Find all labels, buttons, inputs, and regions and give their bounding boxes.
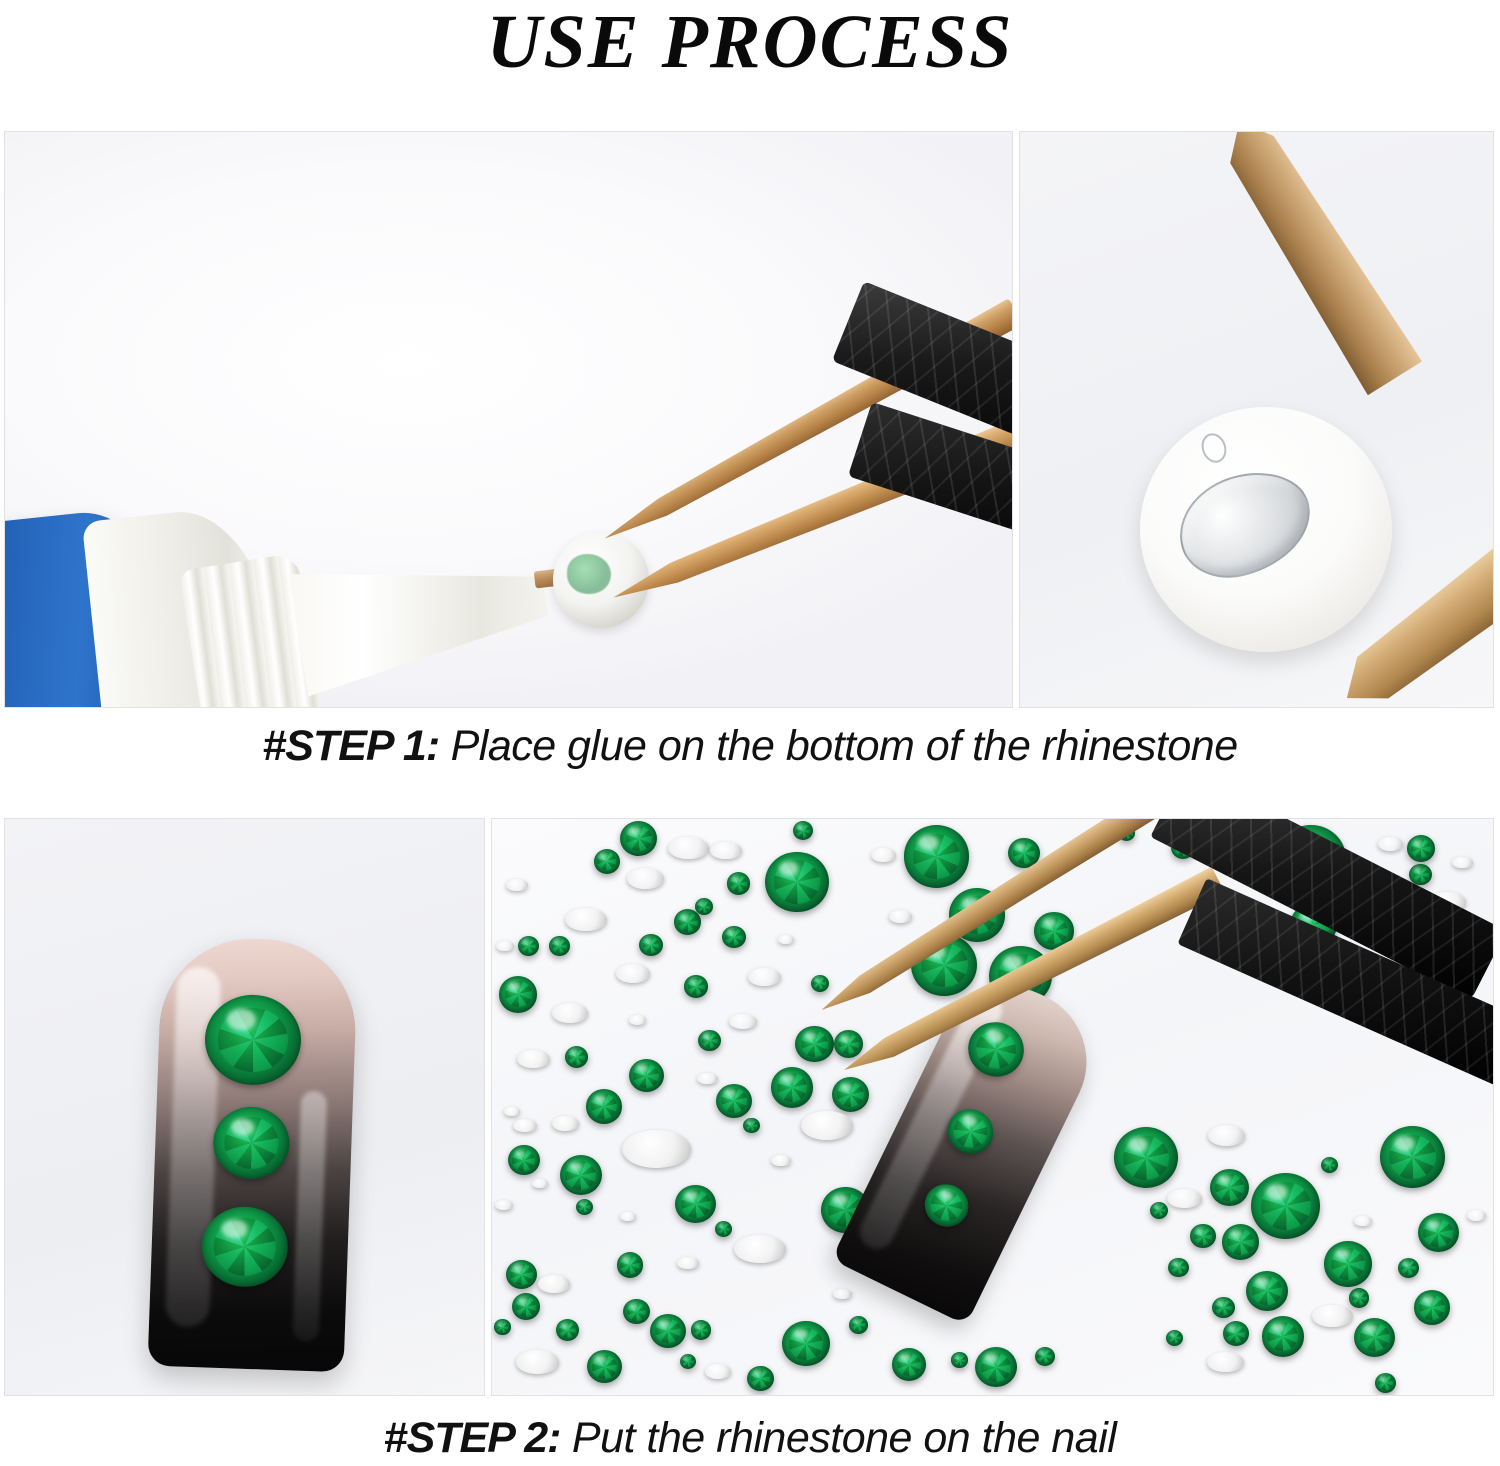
rhinestone-green (508, 1145, 540, 1175)
rhinestone-green (1414, 1290, 1451, 1325)
finished-nail-photo (4, 818, 485, 1396)
rhinestone-green (1251, 1173, 1321, 1239)
rhinestone-flat-back (552, 1003, 588, 1023)
rhinestone-flat-back (627, 868, 664, 888)
rhinestone-flat-back (668, 837, 709, 859)
rhinestone-green (594, 849, 620, 874)
rhinestone-flat-back (778, 935, 794, 944)
rhinestone-green (1321, 1157, 1338, 1173)
rhinestone-green (1035, 1347, 1055, 1366)
rhinestone-green (747, 1366, 774, 1391)
rhinestone-flat-back (516, 1350, 559, 1374)
rhinestone-flat-back (833, 1289, 852, 1299)
rhinestone-flat-back (1140, 407, 1392, 652)
rhinestone-green (1212, 1297, 1234, 1318)
rhinestone-flat-back (889, 910, 913, 923)
step-2-text: Put the rhinestone on the nail (560, 1414, 1116, 1462)
rhinestone-green (1354, 1318, 1395, 1357)
rhinestone-green (1150, 1202, 1168, 1219)
rhinestone-flat-back (1167, 1189, 1201, 1208)
glue-bubble (1198, 430, 1231, 466)
rhinestone-green (691, 1320, 712, 1340)
rhinestone-flat-back (871, 848, 896, 862)
rhinestone-green (834, 1030, 863, 1058)
rhinestone-green (1398, 1258, 1419, 1278)
rhinestone-flat-back (513, 1119, 537, 1132)
rhinestone-green (1375, 1373, 1396, 1393)
rhinestone-green (617, 1252, 644, 1277)
rhinestone-scatter-and-application-photo (491, 818, 1494, 1396)
rhinestone-green (795, 1026, 833, 1062)
rhinestone-green (586, 1089, 622, 1123)
rhinestone-green (1418, 1213, 1459, 1252)
rhinestone-flat-back (517, 1050, 550, 1068)
rhinestone-green (892, 1348, 926, 1380)
rhinestone-green (1349, 1288, 1369, 1307)
rhinestone-green (623, 1299, 649, 1324)
rhinestone-green (650, 1314, 686, 1348)
rhinestone-green (494, 1319, 510, 1334)
rhinestone-green (560, 1155, 602, 1195)
rhinestone-green (765, 852, 829, 912)
nozzle-cone (289, 535, 555, 697)
rhinestone-green (1166, 1330, 1183, 1346)
glue-blob (1168, 460, 1322, 588)
page-title: USE PROCESS (0, 0, 1500, 86)
rhinestone-flat-back (552, 1116, 579, 1131)
rhinestone-flat-back (620, 1212, 637, 1221)
rhinestone-green (811, 975, 829, 992)
rhinestone-green (1114, 1127, 1178, 1188)
rhinestone-green (639, 934, 662, 956)
rhinestone-green (975, 1347, 1017, 1387)
rhinestone-green (1407, 835, 1435, 862)
rhinestone-flat-back (616, 964, 650, 983)
glue-bottle-and-tweezers-photo (4, 131, 1013, 708)
step-1-text: Place glue on the bottom of the rhinesto… (439, 722, 1237, 770)
rhinestone-flat-back (565, 908, 608, 931)
rhinestone-green (576, 1199, 593, 1215)
rhinestone-green (499, 976, 537, 1012)
step-2-image-row (4, 818, 1494, 1396)
rhinestone-green (716, 1084, 752, 1118)
rhinestone-green (629, 1059, 664, 1092)
rhinestone-green (1246, 1271, 1288, 1311)
rhinestone-flat-back (1312, 1305, 1353, 1328)
rhinestone-green (793, 821, 813, 840)
rhinestone-flat-back (748, 968, 781, 986)
rhinestone-green (587, 1350, 622, 1383)
nail-gloss-highlight-secondary (293, 1091, 328, 1342)
rhinestone-green (904, 825, 970, 887)
rhinestone-flat-back (734, 1235, 785, 1263)
rhinestone-flat-back (677, 1257, 699, 1269)
rhinestone-green (727, 872, 751, 894)
rhinestone-green (782, 1321, 829, 1366)
rhinestone-green (743, 1118, 759, 1133)
rhinestone-flat-back (705, 1364, 731, 1378)
rhinestone-flat-back (496, 941, 514, 951)
rhinestone-green (1262, 1316, 1305, 1356)
rhinestone-green (715, 1221, 732, 1237)
rhinestone-green (722, 926, 746, 949)
rhinestone-green (518, 936, 539, 956)
rhinestone-green (1008, 838, 1039, 868)
step-1-label: #STEP 1: (262, 722, 439, 770)
rhinestone-green (1222, 1224, 1259, 1259)
nail-rhinestone-small (918, 1177, 976, 1234)
rhinestone-flat-back (1208, 1125, 1245, 1145)
rhinestone-flat-back (1354, 1216, 1371, 1226)
rhinestone-green (680, 1354, 696, 1369)
step-2-label: #STEP 2: (384, 1414, 561, 1462)
rhinestone-green (549, 936, 569, 955)
rhinestone-flat-back (622, 1130, 691, 1168)
rhinestone-green (1168, 1258, 1188, 1277)
nail-rhinestone-large (203, 993, 302, 1086)
rhinestone-green (849, 1316, 868, 1334)
rhinestone-green (556, 1319, 579, 1341)
rhinestone-green (695, 898, 713, 915)
rhinestone-flat-back (1378, 837, 1403, 851)
rhinestone-green (951, 1352, 967, 1368)
rhinestone-glue-macro-photo (1019, 131, 1494, 708)
nail-rhinestone-small (200, 1205, 289, 1288)
rhinestone-green (1324, 1241, 1372, 1286)
rhinestone-receiving-glue (553, 532, 649, 628)
step-1-image-row (4, 131, 1494, 708)
rhinestone-green (684, 975, 708, 997)
rhinestone-flat-back (629, 1015, 646, 1024)
rhinestone-green (1223, 1321, 1249, 1346)
rhinestone-flat-back (506, 879, 528, 891)
nail-rhinestone-medium (212, 1106, 290, 1181)
rhinestone-green (771, 1067, 814, 1108)
rhinestone-green (1380, 1126, 1445, 1188)
rhinestone-flat-back (801, 1111, 854, 1140)
step-1-caption: #STEP 1: Place glue on the bottom of the… (0, 722, 1500, 771)
rhinestone-flat-back (771, 1155, 790, 1166)
ombre-press-on-nail (148, 936, 359, 1373)
step-2-caption: #STEP 2: Put the rhinestone on the nail (0, 1414, 1500, 1463)
rhinestone-green (1190, 1224, 1215, 1248)
